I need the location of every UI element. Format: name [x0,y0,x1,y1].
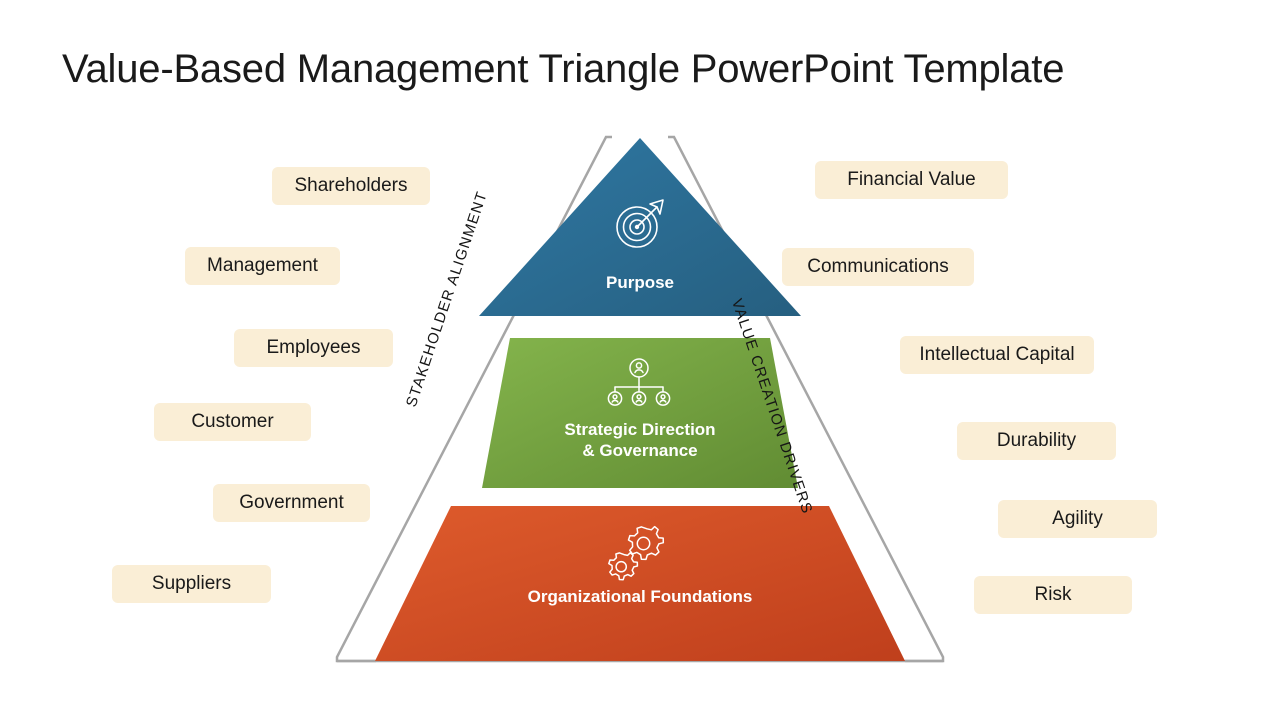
value-driver-chip[interactable]: Financial Value [815,161,1008,199]
value-driver-chip[interactable]: Intellectual Capital [900,336,1094,374]
value-driver-chip[interactable]: Communications [782,248,974,286]
stakeholder-chip[interactable]: Government [213,484,370,522]
stakeholder-chip[interactable]: Management [185,247,340,285]
stakeholder-chip[interactable]: Shareholders [272,167,430,205]
stakeholder-chip[interactable]: Suppliers [112,565,271,603]
tier-shape-purpose[interactable] [479,138,801,316]
value-driver-chip[interactable]: Agility [998,500,1157,538]
tier-shape-organizational-foundations[interactable] [375,506,905,661]
slide-canvas: Value-Based Management Triangle PowerPoi… [0,0,1280,720]
value-driver-chip[interactable]: Durability [957,422,1116,460]
value-driver-chip[interactable]: Risk [974,576,1132,614]
stakeholder-chip[interactable]: Employees [234,329,393,367]
stakeholder-chip[interactable]: Customer [154,403,311,441]
